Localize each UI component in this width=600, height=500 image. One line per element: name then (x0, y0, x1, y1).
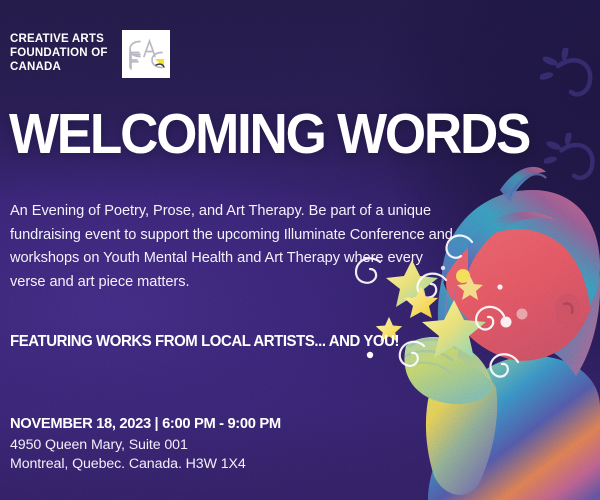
event-details: NOVEMBER 18, 2023 | 6:00 PM - 9:00 PM 49… (10, 415, 289, 473)
event-description: An Evening of Poetry, Prose, and Art The… (10, 200, 462, 295)
poster-canvas: CREATIVE ARTS FOUNDATION OF CANADA (0, 0, 600, 500)
event-address: 4950 Queen Mary, Suite 001 Montreal, Que… (10, 436, 289, 473)
cafc-logo (122, 30, 170, 78)
brand-header: CREATIVE ARTS FOUNDATION OF CANADA (10, 30, 170, 78)
swirl-flourish-icon (540, 48, 600, 110)
page-title: WELCOMING WORDS (9, 106, 529, 163)
featuring-line: FEATURING WORKS FROM LOCAL ARTISTS... AN… (10, 333, 399, 351)
event-date-time: NOVEMBER 18, 2023 | 6:00 PM - 9:00 PM (10, 415, 281, 432)
organization-name: CREATIVE ARTS FOUNDATION OF CANADA (10, 30, 108, 74)
